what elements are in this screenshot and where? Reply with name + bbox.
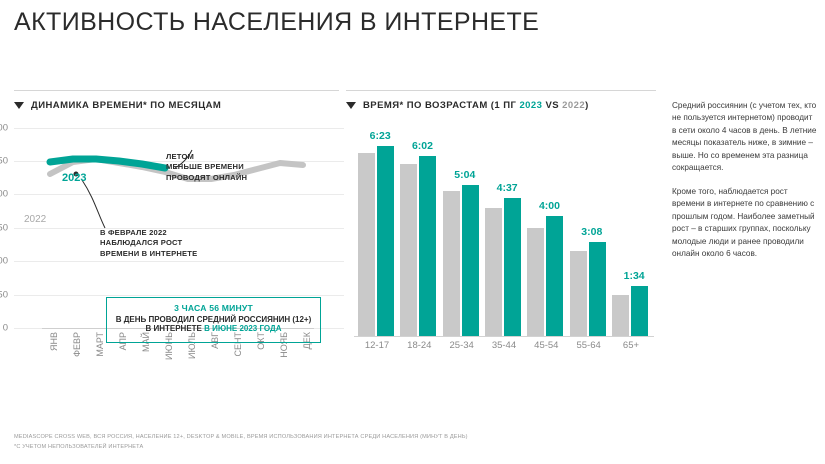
line-chart-heading-label: ДИНАМИКА ВРЕМЕНИ* ПО МЕСЯЦАМ — [31, 100, 221, 111]
bar-category-label: 12-17 — [358, 340, 396, 351]
series-label-2023: 2023 — [62, 172, 86, 184]
y-tick-200: 200 — [0, 189, 8, 200]
commentary-paragraph-1: Средний россиянин (с учетом тех, кто не … — [672, 100, 818, 175]
bar-value-label: 3:08 — [581, 226, 602, 238]
bar-category-label: 18-24 — [400, 340, 438, 351]
bar-chart: 6:23 6:02 5:04 4:37 4:00 3:08 — [354, 124, 654, 336]
y-tick-100: 100 — [0, 256, 8, 267]
bar-chart-panel: ВРЕМЯ* ПО ВОЗРАСТАМ (1 ПГ 2023 VS 2022) … — [346, 88, 656, 388]
bar-value-label: 6:02 — [412, 140, 433, 152]
bar-group: 1:34 — [612, 124, 650, 336]
annotation-leader-feb — [82, 180, 105, 228]
footnote-line-1: MEDIASCOPE CROSS WEB, ВСЯ РОССИЯ, НАСЕЛЕ… — [14, 433, 468, 443]
bar-value-label: 6:23 — [370, 130, 391, 142]
callout-box: 3 ЧАСА 56 МИНУТ В ДЕНЬ ПРОВОДИЛ СРЕДНИЙ … — [106, 297, 321, 343]
bar-2023 — [419, 156, 436, 336]
series-label-2022: 2022 — [24, 214, 46, 225]
bar-2022 — [485, 208, 502, 336]
y-tick-50: 50 — [0, 290, 8, 301]
bar-2022 — [358, 153, 375, 336]
heading-part-a: ВРЕМЯ* ПО ВОЗРАСТАМ (1 ПГ — [363, 100, 519, 111]
callout-line-3: В ИНТЕРНЕТЕ В ИЮНЕ 2023 ГОДА — [113, 324, 314, 333]
annotation-summer: ЛЕТОММЕНЬШЕ ВРЕМЕНИПРОВОДЯТ ОНЛАЙН — [166, 152, 247, 183]
triangle-down-icon — [14, 102, 24, 109]
heading-vs: VS — [542, 100, 562, 111]
bar-chart-x-axis — [354, 336, 654, 337]
heading-part-b: ) — [585, 100, 589, 111]
x-tick-mar: МАРТ — [95, 332, 105, 357]
bar-group: 6:02 — [400, 124, 438, 336]
bar-group: 6:23 — [358, 124, 396, 336]
callout-line-3-a: В ИНТЕРНЕТЕ — [145, 324, 204, 333]
bar-chart-categories: 12-17 18-24 25-34 35-44 45-54 55-64 65+ — [354, 340, 654, 351]
bar-value-label: 5:04 — [454, 169, 475, 181]
bar-2023 — [377, 146, 394, 336]
y-tick-300: 300 — [0, 123, 8, 134]
callout-headline: 3 ЧАСА 56 МИНУТ — [113, 303, 314, 313]
annotation-february: В ФЕВРАЛЕ 2022НАБЛЮДАЛСЯ РОСТВРЕМЕНИ В И… — [100, 228, 197, 259]
bar-value-label: 4:37 — [497, 182, 518, 194]
bar-chart-heading: ВРЕМЯ* ПО ВОЗРАСТАМ (1 ПГ 2023 VS 2022) — [346, 100, 589, 111]
y-tick-0: 0 — [3, 323, 8, 334]
y-tick-250: 250 — [0, 156, 8, 167]
commentary-paragraph-2: Кроме того, наблюдается рост времени в и… — [672, 186, 818, 261]
bar-2022 — [527, 228, 544, 336]
bar-2022 — [570, 251, 587, 336]
page-title: АКТИВНОСТЬ НАСЕЛЕНИЯ В ИНТЕРНЕТЕ — [14, 8, 539, 37]
heading-year-2023: 2023 — [519, 100, 542, 111]
bar-chart-heading-label: ВРЕМЯ* ПО ВОЗРАСТАМ (1 ПГ 2023 VS 2022) — [363, 100, 589, 111]
bar-2023 — [546, 216, 563, 336]
heading-year-2022: 2022 — [562, 100, 585, 111]
triangle-down-icon — [346, 102, 356, 109]
line-chart-panel: ДИНАМИКА ВРЕМЕНИ* ПО МЕСЯЦАМ 300 250 200… — [14, 88, 344, 388]
bar-value-label: 1:34 — [624, 270, 645, 282]
x-tick-feb: ФЕВР — [72, 332, 82, 357]
bar-group: 3:08 — [570, 124, 608, 336]
bar-value-label: 4:00 — [539, 200, 560, 212]
bar-category-label: 35-44 — [485, 340, 523, 351]
bar-2022 — [400, 164, 417, 336]
line-chart-heading: ДИНАМИКА ВРЕМЕНИ* ПО МЕСЯЦАМ — [14, 100, 221, 111]
bar-group: 4:37 — [485, 124, 523, 336]
line-chart: 300 250 200 150 100 50 0 ЯНВ ФЕВР МАРТ А… — [14, 122, 344, 392]
callout-line-2: В ДЕНЬ ПРОВОДИЛ СРЕДНИЙ РОССИЯНИН (12+) — [113, 315, 314, 324]
bar-2023 — [462, 185, 479, 336]
bar-group: 4:00 — [527, 124, 565, 336]
footnote-line-2: *С УЧЕТОМ НЕПОЛЬЗОВАТЕЛЕЙ ИНТЕРНЕТА — [14, 443, 468, 453]
bar-2022 — [612, 295, 629, 336]
bar-2023 — [589, 242, 606, 336]
x-tick-jan: ЯНВ — [49, 332, 59, 351]
bar-category-label: 65+ — [612, 340, 650, 351]
commentary-panel: Средний россиянин (с учетом тех, кто не … — [672, 100, 818, 272]
bar-category-label: 45-54 — [527, 340, 565, 351]
bar-2023 — [504, 198, 521, 336]
footnote: MEDIASCOPE CROSS WEB, ВСЯ РОССИЯ, НАСЕЛЕ… — [14, 433, 468, 452]
y-tick-150: 150 — [0, 223, 8, 234]
bar-category-label: 25-34 — [443, 340, 481, 351]
callout-line-3-b: В ИЮНЕ 2023 ГОДА — [204, 324, 281, 333]
bar-category-label: 55-64 — [570, 340, 608, 351]
bar-group: 5:04 — [443, 124, 481, 336]
bar-2022 — [443, 191, 460, 336]
bar-2023 — [631, 286, 648, 336]
